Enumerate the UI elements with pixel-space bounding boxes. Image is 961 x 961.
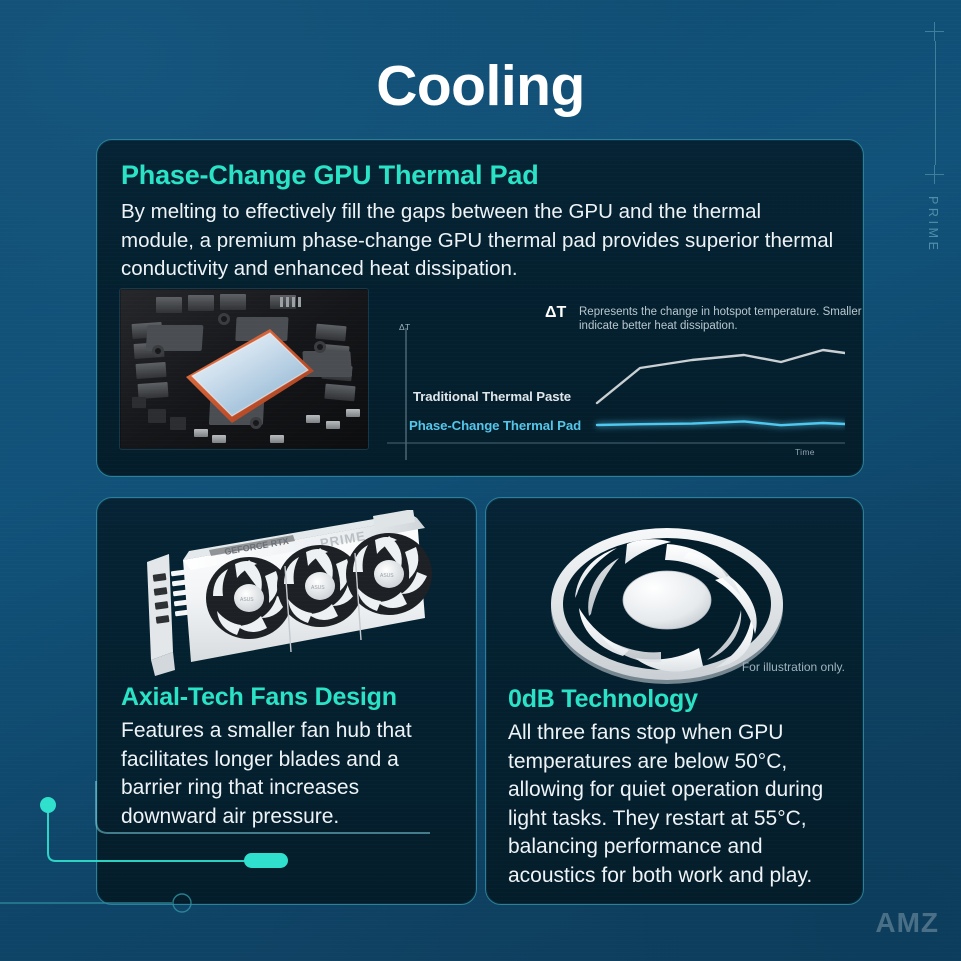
prime-vertical-label: PRIME [926, 196, 940, 254]
card-0db-technology: For illustration only. 0dB Technology Al… [485, 497, 864, 905]
gpu-die-photo [119, 288, 369, 450]
plus-marker-icon [925, 22, 944, 41]
plus-marker-icon-secondary [925, 165, 944, 184]
card-heading-0db: 0dB Technology [508, 685, 698, 714]
graphics-card-photo: GEFORCE RTX PRIME [125, 510, 455, 680]
svg-text:ASUS: ASUS [311, 585, 325, 591]
card-heading-thermal-pad: Phase-Change GPU Thermal Pad [121, 160, 539, 191]
svg-text:ASUS: ASUS [240, 597, 254, 603]
delta-t-line-chart: ΔT Represents the change in hotspot temp… [387, 288, 845, 468]
rail-divider-line [935, 41, 936, 165]
card-phase-change-thermal-pad: Phase-Change GPU Thermal Pad By melting … [96, 139, 864, 477]
svg-text:ASUS: ASUS [380, 573, 394, 579]
prime-brand-rail: PRIME [915, 0, 961, 300]
poster-canvas: Cooling Phase-Change GPU Thermal Pad By … [0, 0, 961, 961]
card-heading-axial-fans: Axial-Tech Fans Design [121, 683, 397, 712]
card-description-thermal-pad: By melting to effectively fill the gaps … [121, 198, 837, 284]
watermark-amz: AMZ [875, 907, 939, 939]
page-title: Cooling [0, 57, 961, 117]
card-description-0db: All three fans stop when GPU temperature… [508, 719, 854, 890]
circuit-trace-decoration [0, 781, 430, 961]
illustration-disclaimer: For illustration only. [742, 660, 845, 674]
